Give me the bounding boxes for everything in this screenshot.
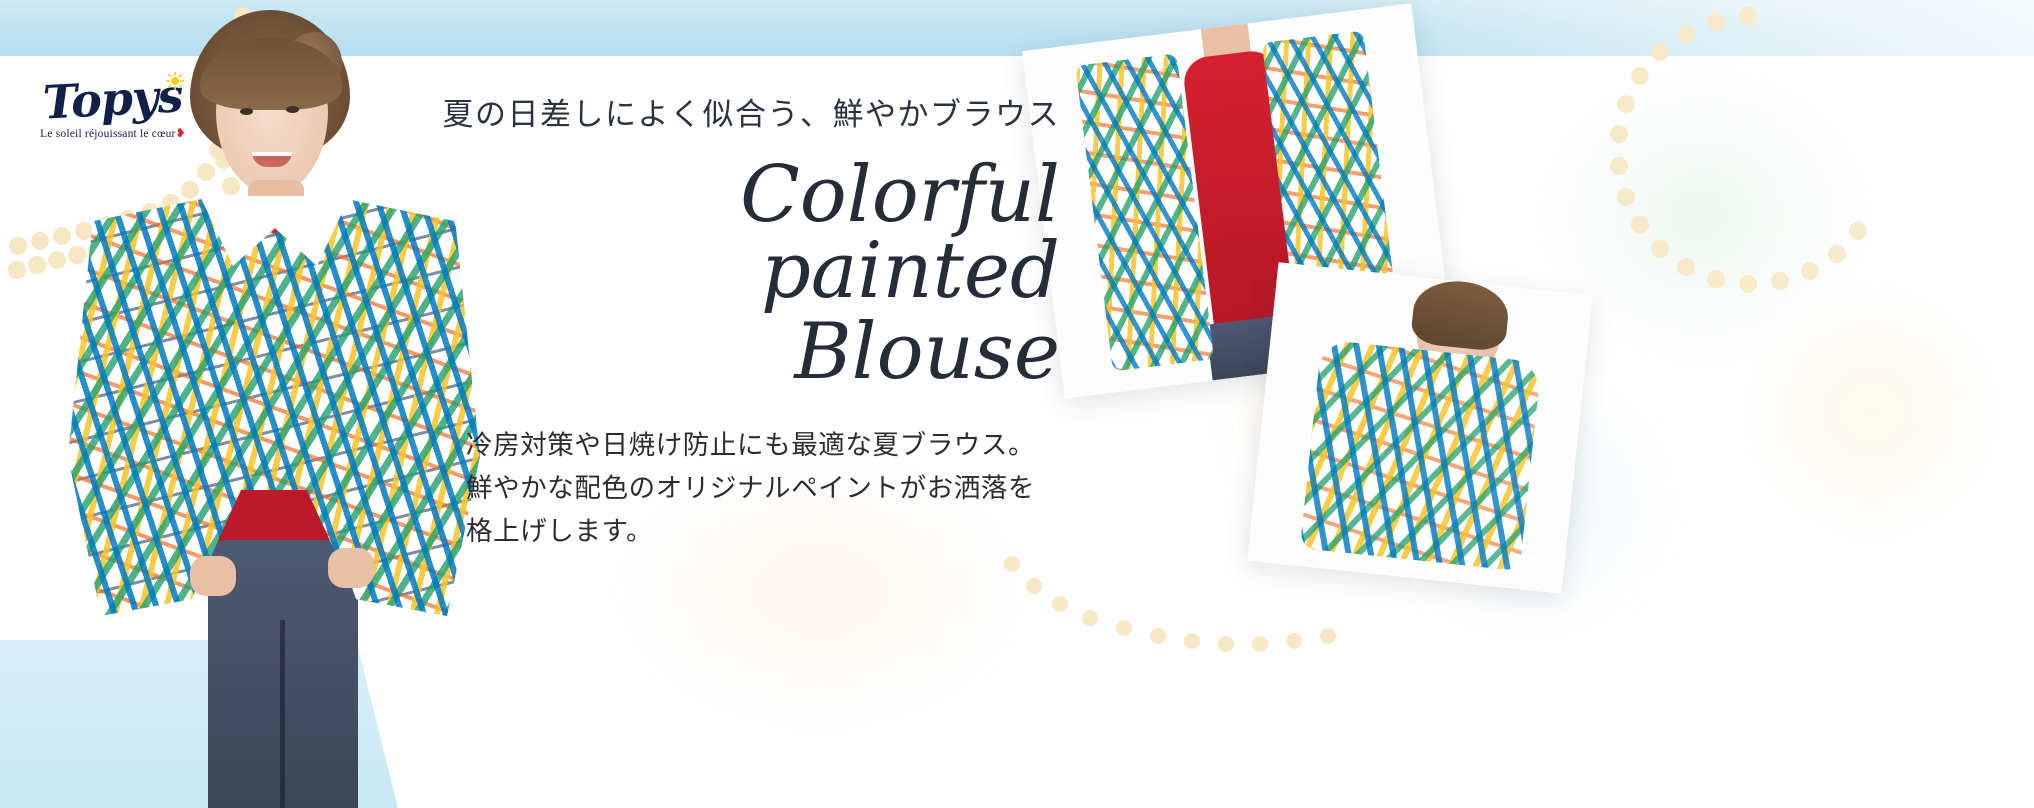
headline-line-2: Blouse — [440, 314, 1060, 390]
model-eye-right — [286, 106, 299, 113]
model-eye-left — [240, 108, 253, 115]
model-hand-left — [190, 556, 236, 596]
product-photo-back-view[interactable] — [1247, 262, 1593, 593]
model-hand-right — [328, 548, 374, 588]
copy-block: 夏の日差しによく似合う、鮮やかブラウス Colorful painted Blo… — [440, 96, 1060, 553]
page-title: Colorful painted Blouse — [440, 157, 1060, 390]
lede-line-2: 鮮やかな配色のオリジナルペイントがお洒落を — [466, 467, 1060, 510]
lede-paragraph: 冷房対策や日焼け防止にも最適な夏ブラウス。 鮮やかな配色のオリジナルペイントがお… — [440, 424, 1060, 553]
kicker-text: 夏の日差しによく似合う、鮮やかブラウス — [440, 96, 1060, 135]
headline-line-1: Colorful painted — [440, 157, 1060, 310]
product-photo-2-blouse-back — [1299, 339, 1541, 571]
promo-banner: Topys Le soleil — [0, 0, 2034, 808]
lede-line-3: 格上げします。 — [466, 510, 1060, 553]
lede-line-1: 冷房対策や日焼け防止にも最適な夏ブラウス。 — [466, 424, 1060, 467]
model-pants-seam — [280, 620, 285, 808]
